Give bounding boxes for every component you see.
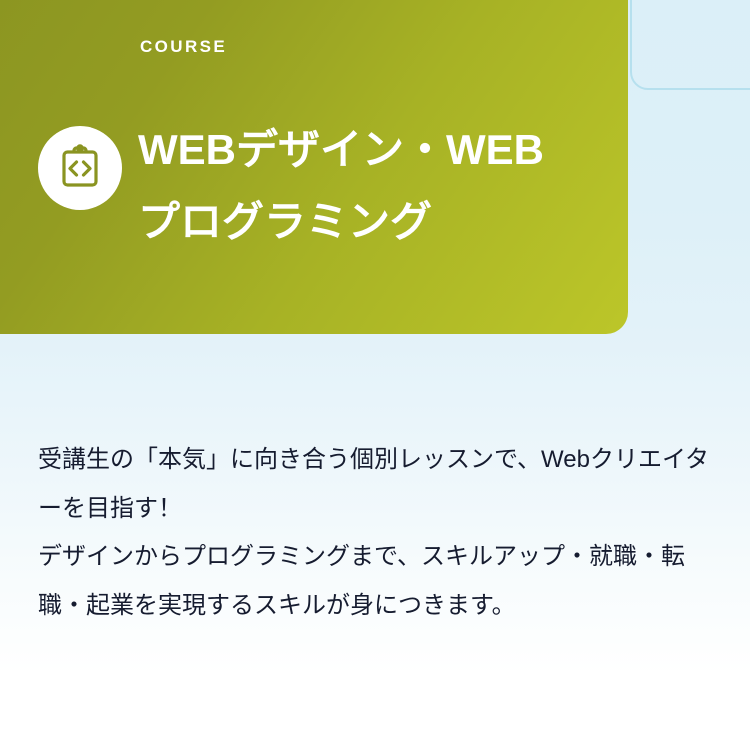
- course-card[interactable]: COURSE WEBデザイン・WEBプログラミング: [0, 0, 628, 334]
- course-title: WEBデザイン・WEBプログラミング: [138, 114, 578, 258]
- decorative-outline-box: [630, 0, 750, 90]
- course-description: 受講生の「本気」に向き合う個別レッスンで、Webクリエイターを目指す！ デザイン…: [38, 436, 720, 630]
- clipboard-code-icon: [38, 126, 122, 210]
- course-card-content: COURSE WEBデザイン・WEBプログラミング: [0, 0, 628, 334]
- course-eyebrow-label: COURSE: [140, 38, 227, 55]
- course-card-page: COURSE WEBデザイン・WEBプログラミング 受講生の「本気」に向き合う個…: [0, 0, 750, 732]
